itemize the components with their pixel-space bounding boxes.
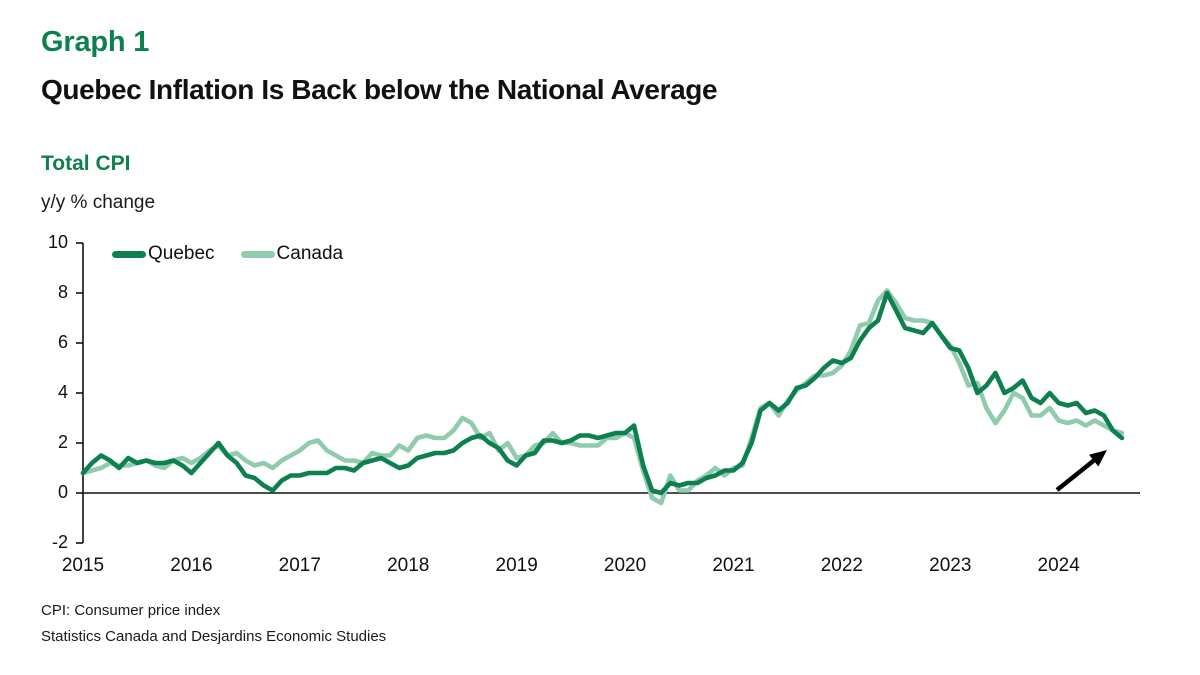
page-title: Quebec Inflation Is Back below the Natio…	[41, 74, 717, 106]
legend-item-quebec: Quebec	[112, 243, 215, 265]
x-axis-tick-label: 2022	[797, 555, 887, 577]
x-axis-tick-label: 2024	[1014, 555, 1104, 577]
legend-label-quebec: Quebec	[148, 243, 215, 265]
x-axis-tick-label: 2017	[255, 555, 345, 577]
x-axis-tick-label: 2020	[580, 555, 670, 577]
x-axis-tick-label: 2016	[146, 555, 236, 577]
series-line-canada	[83, 291, 1122, 504]
graph-number-label: Graph 1	[41, 26, 149, 59]
x-axis-tick-label: 2019	[472, 555, 562, 577]
legend-swatch-canada-icon	[241, 251, 275, 258]
arrow-head	[1089, 450, 1107, 466]
x-axis-tick-label: 2015	[38, 555, 128, 577]
x-axis-tick-label: 2021	[688, 555, 778, 577]
chart-legend: Quebec Canada	[112, 243, 343, 265]
legend-swatch-quebec-icon	[112, 251, 146, 258]
trend-arrow-icon	[1057, 450, 1107, 490]
footnote-definition: CPI: Consumer price index	[41, 602, 220, 619]
legend-label-canada: Canada	[277, 243, 344, 265]
chart-unit-title: Total CPI	[41, 152, 130, 176]
y-axis-tick-label: 0	[28, 482, 68, 503]
y-axis-tick-label: 8	[28, 282, 68, 303]
y-axis-tick-label: 6	[28, 332, 68, 353]
y-axis-tick-label: 10	[28, 232, 68, 253]
chart-unit-subtitle: y/y % change	[41, 192, 155, 214]
y-axis-tick-label: -2	[28, 532, 68, 553]
x-axis-tick-label: 2023	[905, 555, 995, 577]
chart-page: Graph 1 Quebec Inflation Is Back below t…	[0, 0, 1200, 675]
footnote-source: Statistics Canada and Desjardins Economi…	[41, 628, 386, 645]
legend-item-canada: Canada	[241, 243, 344, 265]
y-axis-tick-label: 4	[28, 382, 68, 403]
y-axis-tick-label: 2	[28, 432, 68, 453]
x-axis-tick-label: 2018	[363, 555, 453, 577]
arrow-shaft	[1057, 458, 1097, 490]
series-line-quebec	[83, 293, 1122, 493]
